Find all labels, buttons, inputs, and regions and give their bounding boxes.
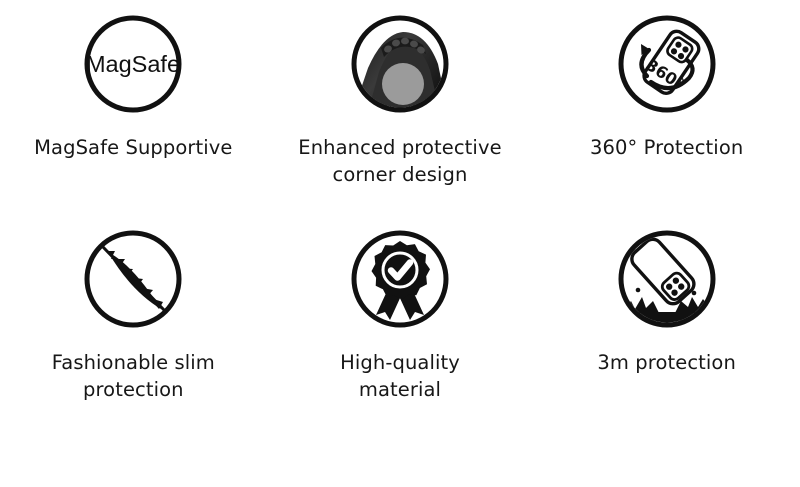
feature-item-3m-protection: 3m protection [533, 215, 800, 430]
quality-badge-check-icon [348, 227, 452, 331]
drop-impact-phone-icon [615, 227, 719, 331]
feature-label-3m-protection: 3m protection [597, 349, 736, 376]
magsafe-icon: MagSafe [81, 12, 185, 116]
feature-item-magsafe-supportive: MagSafe MagSafe Supportive [0, 0, 267, 215]
feature-label-enhanced-corner: Enhanced protective corner design [298, 134, 501, 188]
feature-label-magsafe-supportive: MagSafe Supportive [34, 134, 232, 161]
feature-item-high-quality-material: High-quality material [267, 215, 534, 430]
feature-label-360-protection: 360° Protection [590, 134, 743, 161]
corner-bumper-icon [348, 12, 452, 116]
feature-item-360-protection: 360° 360° Protection [533, 0, 800, 215]
feather-icon [81, 227, 185, 331]
bottom-spacer [0, 430, 800, 487]
360-rotation-phone-icon: 360° [615, 12, 719, 116]
feature-item-enhanced-corner: Enhanced protective corner design [267, 0, 534, 215]
feature-grid: MagSafe MagSafe Supportive [0, 0, 800, 487]
feature-item-fashionable-slim: Fashionable slim protection [0, 215, 267, 430]
magsafe-icon-text: MagSafe [86, 51, 180, 77]
feature-label-high-quality-material: High-quality material [340, 349, 460, 403]
feature-label-fashionable-slim: Fashionable slim protection [52, 349, 215, 403]
